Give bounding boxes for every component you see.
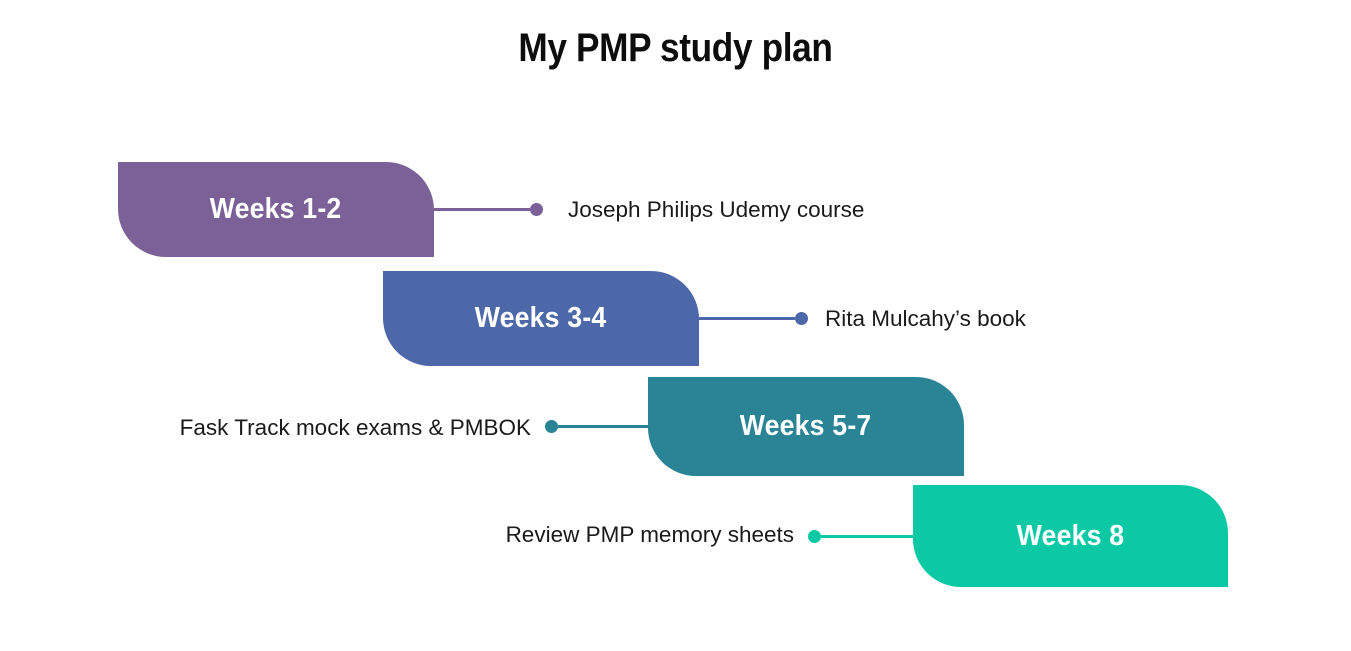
phase-group-weeks-8: Weeks 8: [913, 485, 1228, 587]
connector-line: [558, 425, 648, 428]
phase-note-weeks-3-4: Rita Mulcahy’s book: [825, 305, 1026, 333]
phase-group-weeks-1-2: Weeks 1-2: [118, 162, 434, 257]
timeline-chart: My PMP study plan Weeks 1-2 Joseph Phili…: [0, 0, 1351, 651]
connector-line: [699, 317, 795, 320]
page-title: My PMP study plan: [81, 20, 1270, 76]
phase-bar-label: Weeks 5-7: [740, 410, 872, 443]
connector-weeks-3-4: [699, 312, 808, 326]
connector-weeks-8: [808, 529, 913, 543]
connector-weeks-1-2: [434, 203, 543, 217]
phase-bar-weeks-8[interactable]: Weeks 8: [913, 485, 1228, 587]
connector-dot: [530, 203, 543, 216]
connector-dot: [795, 312, 808, 325]
phase-bar-weeks-3-4[interactable]: Weeks 3-4: [383, 271, 699, 366]
connector-line: [821, 535, 913, 538]
phase-note-weeks-8: Review PMP memory sheets: [0, 521, 794, 549]
phase-bar-weeks-1-2[interactable]: Weeks 1-2: [118, 162, 434, 257]
phase-note-weeks-1-2: Joseph Philips Udemy course: [568, 196, 864, 224]
connector-line: [434, 208, 530, 211]
phase-bar-label: Weeks 1-2: [210, 193, 342, 226]
phase-bar-weeks-5-7[interactable]: Weeks 5-7: [648, 377, 964, 476]
connector-weeks-5-7: [545, 420, 648, 434]
phase-group-weeks-3-4: Weeks 3-4: [383, 271, 699, 366]
phase-bar-label: Weeks 3-4: [475, 302, 607, 335]
phase-group-weeks-5-7: Weeks 5-7: [648, 377, 964, 476]
connector-dot: [545, 420, 558, 433]
connector-dot: [808, 530, 821, 543]
phase-bar-label: Weeks 8: [1017, 520, 1125, 553]
phase-note-weeks-5-7: Fask Track mock exams & PMBOK: [0, 414, 531, 442]
